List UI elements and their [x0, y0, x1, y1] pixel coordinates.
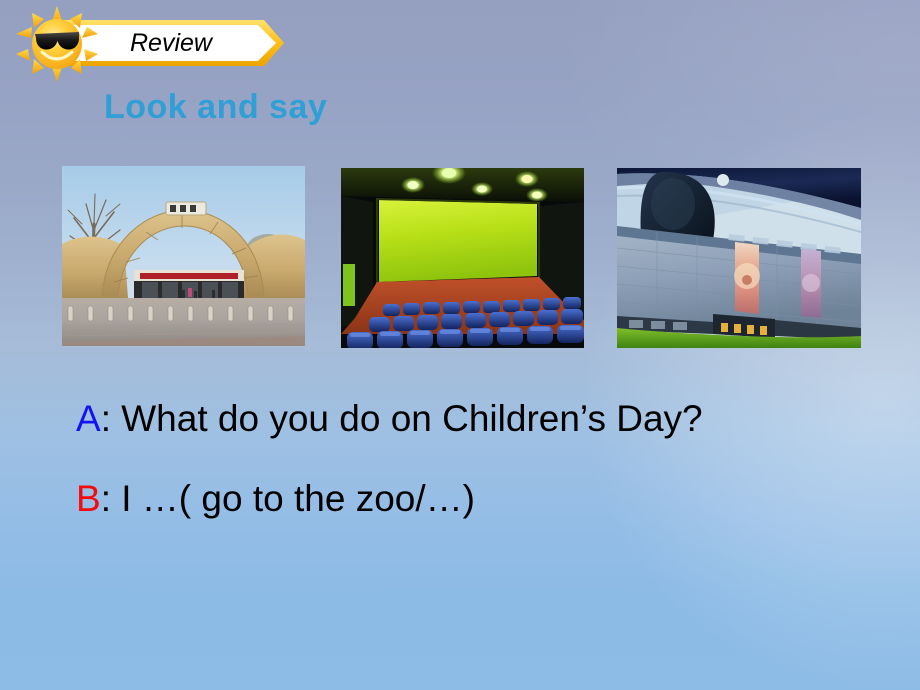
review-banner: Review [8, 4, 288, 84]
speaker-label-b: B [76, 478, 101, 519]
slide-canvas: Review Look and say [0, 0, 920, 690]
dialogue-text-a: : What do you do on Children’s Day? [101, 398, 703, 439]
dialogue-text-b: : I …( go to the zoo/…) [101, 478, 475, 519]
zoo-entrance-photo [62, 166, 305, 346]
review-banner-label: Review [130, 24, 256, 62]
cinema-image [341, 168, 584, 348]
photo-strip [62, 166, 862, 348]
page-title: Look and say [104, 88, 327, 127]
zoo-entrance-image [62, 166, 305, 346]
museum-image [617, 168, 861, 348]
dialogue-line-a: A: What do you do on Children’s Day? [76, 398, 703, 440]
museum-photo [617, 168, 861, 348]
dialogue-line-b: B: I …( go to the zoo/…) [76, 478, 475, 520]
speaker-label-a: A [76, 398, 101, 439]
cinema-photo [341, 168, 584, 348]
